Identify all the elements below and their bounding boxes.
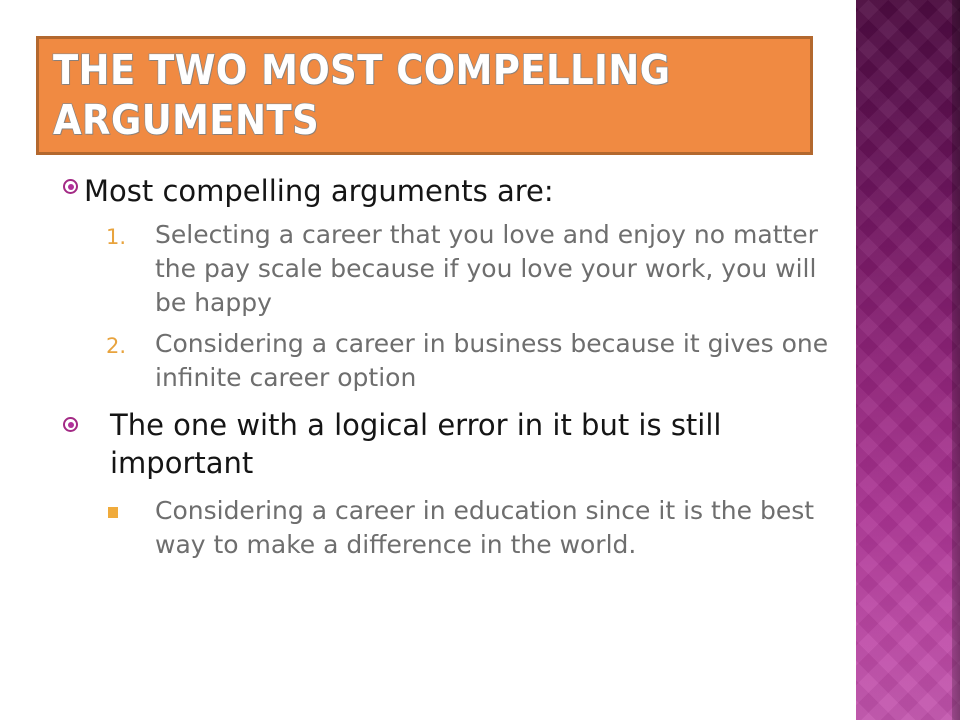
slide-body: Most compelling arguments are: 1. Select…: [0, 172, 840, 562]
slide-canvas: The two most compelling arguments Most c…: [0, 0, 960, 720]
spacer: [0, 484, 840, 494]
spacer: [0, 396, 840, 406]
page-title: The two most compelling arguments: [53, 45, 793, 145]
decorative-side-band: [856, 0, 960, 720]
title-box: The two most compelling arguments: [36, 36, 813, 155]
decorative-side-band-edge: [952, 0, 960, 720]
bullet-level1-1: Most compelling arguments are:: [0, 172, 840, 210]
bullet-level2-1: 1. Selecting a career that you love and …: [0, 218, 840, 320]
bullet-text: Most compelling arguments are:: [84, 174, 554, 208]
target-bullet-icon: [63, 417, 79, 433]
list-number: 1.: [106, 220, 142, 254]
bullet-text: Considering a career in education since …: [155, 496, 814, 559]
bullet-level2-2: 2. Considering a career in business beca…: [0, 327, 840, 395]
bullet-level1-2: The one with a logical error in it but i…: [0, 406, 840, 482]
list-number: 2.: [106, 329, 142, 363]
bullet-text: Selecting a career that you love and enj…: [155, 220, 818, 317]
bullet-text: Considering a career in business because…: [155, 329, 828, 392]
target-bullet-icon: [63, 179, 79, 195]
bullet-level2-3: Considering a career in education since …: [0, 494, 840, 562]
bullet-text: The one with a logical error in it but i…: [110, 408, 721, 480]
square-bullet-icon: [108, 507, 118, 518]
